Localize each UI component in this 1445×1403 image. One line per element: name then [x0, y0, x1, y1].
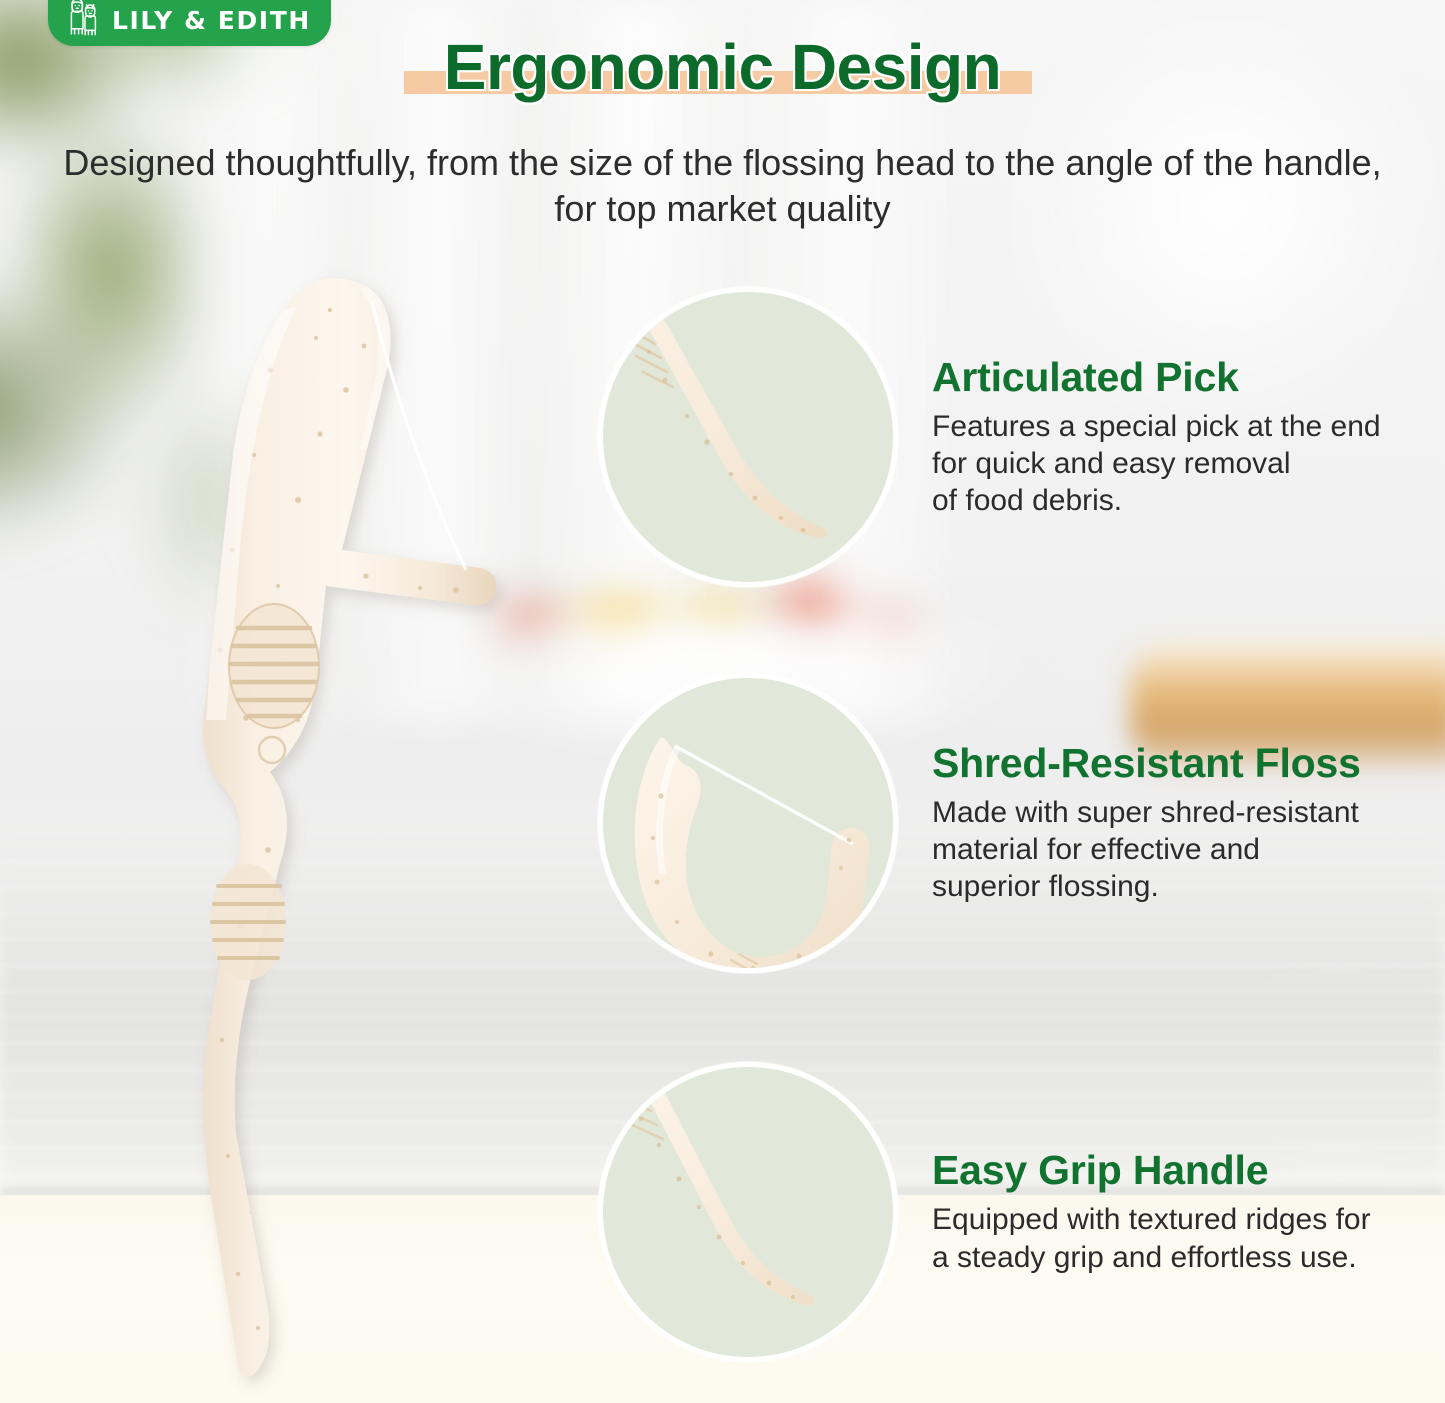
infographic-canvas: LILY & EDITH Ergonomic Design Designed t… — [0, 0, 1445, 1403]
feature-text-block: Easy Grip Handle Equipped with textured … — [932, 1148, 1432, 1276]
feature-row: Easy Grip Handle Equipped with textured … — [598, 1062, 1432, 1362]
feature-body: Made with super shred-resistant material… — [932, 794, 1432, 906]
headline-wrapper: Ergonomic Design — [0, 34, 1445, 101]
articulated-pick-closeup-icon — [598, 287, 898, 587]
grip-ridges-lower — [210, 864, 286, 980]
floss-head-closeup-icon — [598, 673, 898, 973]
textured-handle-closeup-icon — [598, 1062, 898, 1362]
page-subtitle: Designed thoughtfully, from the size of … — [0, 140, 1445, 232]
feature-body-line: a steady grip and effortless use. — [932, 1239, 1432, 1276]
dental-floss-pick — [120, 250, 550, 1403]
page-title: Ergonomic Design — [444, 34, 1001, 101]
feature-body-line: Made with super shred-resistant — [932, 794, 1432, 831]
brand-name: LILY & EDITH — [112, 8, 311, 33]
feature-row: Shred-Resistant Floss Made with super sh… — [598, 673, 1432, 973]
feature-text-block: Shred-Resistant Floss Made with super sh… — [932, 741, 1432, 906]
feature-body-line: material for effective and — [932, 831, 1432, 868]
feature-body: Features a special pick at the end for q… — [932, 408, 1432, 520]
feature-body: Equipped with textured ridges for a stea… — [932, 1201, 1432, 1275]
feature-body-line: of food debris. — [932, 482, 1432, 519]
feature-row: Articulated Pick Features a special pick… — [598, 287, 1432, 587]
feature-text-block: Articulated Pick Features a special pick… — [932, 355, 1432, 520]
feature-title: Articulated Pick — [932, 355, 1432, 399]
subtitle-line-1: Designed thoughtfully, from the size of … — [63, 142, 1253, 183]
feature-title: Easy Grip Handle — [932, 1148, 1432, 1192]
feature-body-line: Features a special pick at the end — [932, 408, 1432, 445]
feature-body-line: superior flossing. — [932, 868, 1432, 905]
feature-title: Shred-Resistant Floss — [932, 741, 1432, 785]
feature-body-line: for quick and easy removal — [932, 445, 1432, 482]
two-girls-icon — [68, 0, 100, 37]
feature-body-line: Equipped with textured ridges for — [932, 1201, 1432, 1238]
